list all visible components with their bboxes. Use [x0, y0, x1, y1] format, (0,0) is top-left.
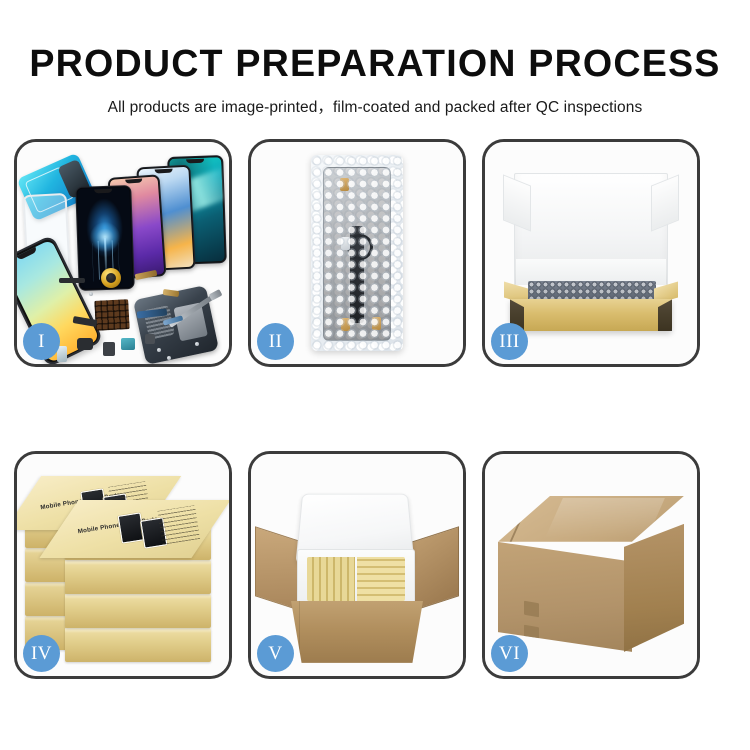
kraft-box-body [510, 299, 672, 331]
page-subtitle: All products are image-printed，film-coat… [0, 100, 750, 116]
step-badge-2: II [257, 323, 294, 360]
carton-side-face [624, 524, 684, 652]
screw-part [167, 356, 171, 360]
process-steps-grid: I II [14, 139, 736, 679]
small-module-part [103, 342, 115, 356]
label-piece [341, 237, 350, 250]
small-module-part [145, 334, 155, 344]
step-badge-1: I [23, 323, 60, 360]
step-panel-5: V [248, 451, 466, 679]
screw-part [89, 292, 93, 296]
flex-cable-part [59, 278, 85, 283]
step-panel-4: Mobile Phone Spare Parts Mobile Phone Sp… [14, 451, 232, 679]
carton-seam [545, 498, 665, 538]
step-panel-6: VI [482, 451, 700, 679]
open-outer-carton [257, 483, 457, 665]
sim-tray-part [121, 338, 135, 350]
sealed-shipping-carton [498, 496, 684, 652]
stacked-box [65, 594, 211, 628]
tape-patch [524, 625, 539, 640]
step-panel-3: III [482, 139, 700, 367]
step-badge-5: V [257, 635, 294, 672]
box-stack: Mobile Phone Spare Parts Mobile Phone Sp… [25, 474, 221, 664]
open-inner-box [500, 173, 682, 341]
small-module-part [77, 338, 93, 350]
step-panel-1: I [14, 139, 232, 367]
screw-part [195, 342, 199, 346]
packed-boxes [307, 557, 405, 601]
step-badge-4: IV [23, 635, 60, 672]
logic-board-part [94, 299, 130, 331]
page-title: PRODUCT PREPARATION PROCESS [4, 45, 747, 83]
tape-patch [524, 601, 539, 618]
carton-body [291, 601, 423, 663]
step-badge-6: VI [491, 635, 528, 672]
lid-spec-text-block [157, 506, 200, 546]
carton-front-face [498, 542, 632, 652]
wrapped-part [323, 167, 391, 341]
tape-piece [341, 318, 350, 331]
header: PRODUCT PREPARATION PROCESS All products… [0, 0, 750, 116]
screw-part [157, 348, 161, 352]
stacked-box [65, 628, 211, 662]
bubble-wrap-bag [311, 155, 403, 351]
speaker-module-part [101, 268, 121, 288]
tape-piece [340, 178, 349, 191]
stacked-box [65, 560, 211, 594]
step-badge-3: III [491, 323, 528, 360]
tape-piece [372, 317, 381, 330]
product-preparation-infographic: PRODUCT PREPARATION PROCESS All products… [0, 0, 750, 750]
step-panel-2: II [248, 139, 466, 367]
part-flex-cable [350, 226, 364, 322]
